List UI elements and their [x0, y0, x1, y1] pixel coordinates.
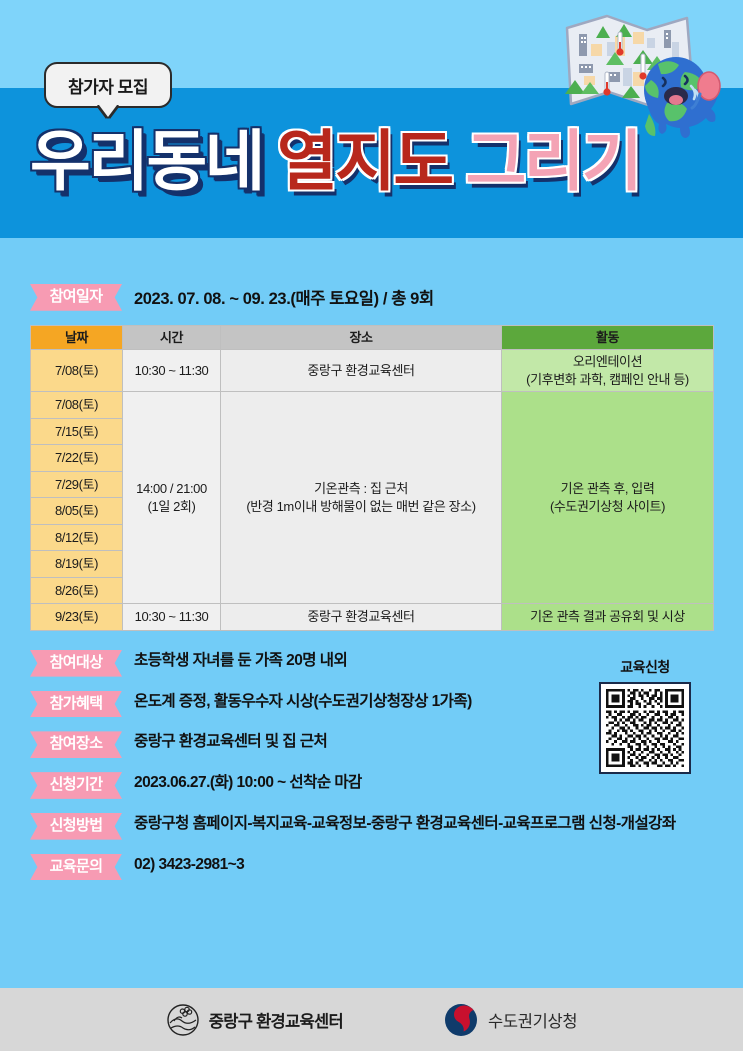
info-value-venue: 중랑구 환경교육센터 및 집 근처 [134, 730, 327, 753]
cell-place: 중랑구 환경교육센터 [221, 350, 502, 392]
footer-logo-kma: 수도권기상청 [443, 1002, 577, 1038]
title-word-2: 열지도 [277, 128, 452, 194]
info-label-benefit: 참가혜택 [30, 691, 122, 718]
info-label-venue: 참여장소 [30, 731, 122, 758]
cell-activity: 오리엔테이션(기후변화 과학, 캠페인 안내 등) [502, 350, 714, 392]
cell-date: 8/19(토) [31, 551, 123, 578]
info-value-benefit: 온도계 증정, 활동우수자 시상(수도권기상청장상 1가족) [134, 690, 472, 713]
title-word-1: 우리동네 [30, 128, 263, 194]
cell-date: 8/05(토) [31, 498, 123, 525]
cell-activity: 기온 관측 후, 입력(수도권기상청 사이트) [502, 392, 714, 604]
cell-date: 7/29(토) [31, 471, 123, 498]
cell-date: 7/08(토) [31, 350, 123, 392]
footer-logo-name-jungnang: 중랑구 환경교육센터 [209, 1008, 343, 1032]
page-title: 우리동네 열지도 그리기 [30, 128, 640, 194]
schedule-table: 날짜 시간 장소 활동 7/08(토) 10:30 ~ 11:30 중랑구 환경… [30, 325, 714, 631]
table-row: 7/08(토) 14:00 / 21:00(1일 2회) 기온관측 : 집 근처… [31, 392, 714, 419]
table-header-date: 날짜 [31, 325, 123, 350]
info-row-period: 신청기간 2023.06.27.(화) 10:00 ~ 선착순 마감 [30, 771, 713, 799]
info-label-period: 신청기간 [30, 772, 122, 799]
cell-date: 7/15(토) [31, 418, 123, 445]
info-label-target: 참여대상 [30, 650, 122, 677]
info-value-method: 중랑구청 홈페이지-복지교육-교육정보-중랑구 환경교육센터-교육프로그램 신청… [134, 812, 676, 835]
cell-time: 10:30 ~ 11:30 [123, 604, 221, 631]
schedule-table-body: 7/08(토) 10:30 ~ 11:30 중랑구 환경교육센터 오리엔테이션(… [31, 350, 714, 631]
info-value-contact: 02) 3423-2981~3 [134, 853, 244, 876]
table-row: 9/23(토) 10:30 ~ 11:30 중랑구 환경교육센터 기온 관측 결… [31, 604, 714, 631]
footer: 중랑구 환경교육센터 수도권기상청 [0, 988, 743, 1051]
info-value-target: 초등학생 자녀를 둔 가족 20명 내외 [134, 649, 347, 672]
qr-application-block[interactable]: 교육신청 [585, 657, 705, 774]
title-word-3: 그리기 [466, 128, 641, 194]
recruitment-badge-label: 참가자 모집 [68, 73, 148, 98]
info-label-method: 신청방법 [30, 813, 122, 840]
cell-date: 7/08(토) [31, 392, 123, 419]
jungnang-eco-center-logo [166, 1003, 200, 1037]
table-header-time: 시간 [123, 325, 221, 350]
recruitment-badge: 참가자 모집 [44, 62, 172, 108]
info-row-contact: 교육문의 02) 3423-2981~3 [30, 853, 713, 881]
cell-date: 8/12(토) [31, 524, 123, 551]
cell-date: 7/22(토) [31, 445, 123, 472]
table-header-place: 장소 [221, 325, 502, 350]
qr-code-icon[interactable] [599, 682, 691, 774]
info-row-method: 신청방법 중랑구청 홈페이지-복지교육-교육정보-중랑구 환경교육센터-교육프로… [30, 812, 713, 840]
kma-taegeuk-logo [443, 1002, 479, 1038]
cell-activity: 기온 관측 결과 공유회 및 시상 [502, 604, 714, 631]
cell-time: 14:00 / 21:00(1일 2회) [123, 392, 221, 604]
poster-header: 참가자 모집 우리동네 열지도 그리기 [0, 0, 743, 238]
footer-logo-jungnang: 중랑구 환경교육센터 [166, 1003, 343, 1037]
qr-caption: 교육신청 [585, 657, 705, 677]
cell-place: 기온관측 : 집 근처(반경 1m이내 방해물이 없는 매번 같은 장소) [221, 392, 502, 604]
schedule-intro-row: 참여일자 2023. 07. 08. ~ 09. 23.(매주 토요일) / 총… [30, 238, 713, 311]
poster-body: 참여일자 2023. 07. 08. ~ 09. 23.(매주 토요일) / 총… [0, 238, 743, 880]
table-header-activity: 활동 [502, 325, 714, 350]
cell-date: 9/23(토) [31, 604, 123, 631]
cell-date: 8/26(토) [31, 577, 123, 604]
cell-place: 중랑구 환경교육센터 [221, 604, 502, 631]
table-row: 7/08(토) 10:30 ~ 11:30 중랑구 환경교육센터 오리엔테이션(… [31, 350, 714, 392]
info-value-period: 2023.06.27.(화) 10:00 ~ 선착순 마감 [134, 771, 362, 794]
footer-logo-name-kma: 수도권기상청 [488, 1008, 577, 1032]
cell-time: 10:30 ~ 11:30 [123, 350, 221, 392]
schedule-intro-value: 2023. 07. 08. ~ 09. 23.(매주 토요일) / 총 9회 [134, 285, 434, 309]
schedule-intro-label: 참여일자 [30, 284, 122, 311]
speech-bubble-tail-icon [99, 105, 117, 117]
info-label-contact: 교육문의 [30, 854, 122, 881]
table-header-row: 날짜 시간 장소 활동 [31, 325, 714, 350]
info-list: 교육신청 [30, 649, 713, 881]
schedule-table-wrapper: 날짜 시간 장소 활동 7/08(토) 10:30 ~ 11:30 중랑구 환경… [30, 325, 713, 631]
